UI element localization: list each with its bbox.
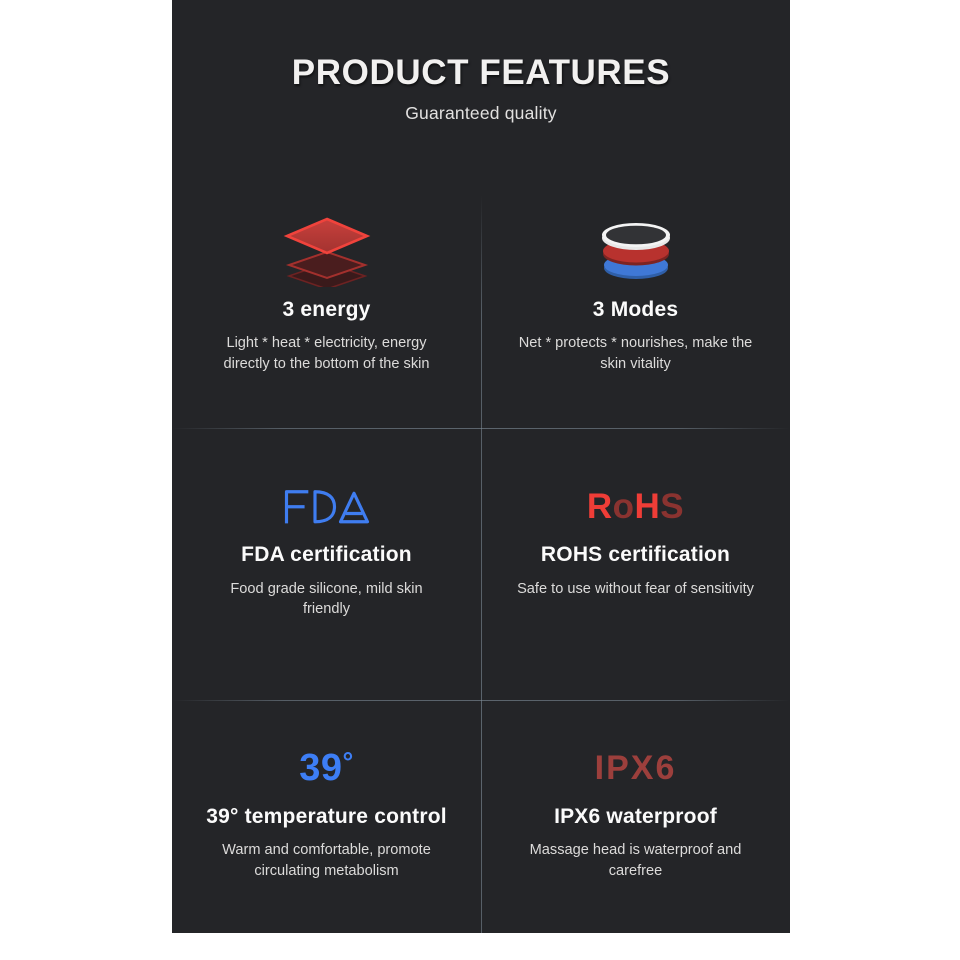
feature-description: Safe to use without fear of sensitivity bbox=[517, 568, 754, 600]
icon-container: 39° bbox=[299, 732, 354, 804]
ipx6-logo-icon: IPX6 bbox=[595, 751, 677, 785]
dark-panel: PRODUCT FEATURES Guaranteed quality bbox=[172, 0, 790, 933]
rohs-letter-s: S bbox=[660, 487, 684, 526]
features-grid: 3 energy Light * heat * electricity, ene… bbox=[172, 155, 790, 933]
feature-title: 39° temperature control bbox=[206, 804, 447, 829]
feature-description: Food grade silicone, mild skin friendly bbox=[207, 568, 447, 620]
feature-cell-3-modes: 3 Modes Net * protects * nourishes, make… bbox=[481, 155, 790, 414]
feature-title: FDA certification bbox=[241, 542, 412, 567]
feature-cell-rohs: RoHS ROHS certification Safe to use with… bbox=[481, 414, 790, 673]
product-features-infographic: PRODUCT FEATURES Guaranteed quality bbox=[0, 0, 960, 960]
feature-title: 3 energy bbox=[283, 297, 371, 322]
temperature-39-icon: 39° bbox=[299, 749, 354, 787]
rohs-letter-o: o bbox=[613, 487, 635, 526]
icon-container bbox=[282, 470, 372, 542]
rohs-logo-icon: RoHS bbox=[587, 489, 684, 524]
icon-container: IPX6 bbox=[595, 732, 677, 804]
degree-symbol: ° bbox=[342, 747, 353, 777]
header: PRODUCT FEATURES Guaranteed quality bbox=[172, 0, 790, 124]
feature-cell-fda: FDA certification Food grade silicone, m… bbox=[172, 414, 481, 673]
feature-cell-ipx6: IPX6 IPX6 waterproof Massage head is wat… bbox=[481, 674, 790, 933]
icon-container: RoHS bbox=[587, 470, 684, 542]
rohs-letter-r: R bbox=[587, 487, 613, 526]
feature-description: Massage head is waterproof and carefree bbox=[516, 829, 756, 881]
feature-description: Warm and comfortable, promote circulatin… bbox=[207, 829, 447, 881]
stacked-discs-icon bbox=[590, 209, 682, 289]
feature-cell-3-energy: 3 energy Light * heat * electricity, ene… bbox=[172, 155, 481, 414]
feature-title: 3 Modes bbox=[593, 297, 678, 322]
icon-container bbox=[279, 201, 375, 297]
rohs-letter-h: H bbox=[635, 487, 661, 526]
icon-container bbox=[590, 201, 682, 297]
feature-description: Light * heat * electricity, energy direc… bbox=[207, 322, 447, 374]
feature-description: Net * protects * nourishes, make the ski… bbox=[516, 322, 756, 374]
feature-cell-temperature: 39° 39° temperature control Warm and com… bbox=[172, 674, 481, 933]
feature-title: ROHS certification bbox=[541, 542, 730, 567]
page-subtitle: Guaranteed quality bbox=[172, 93, 790, 124]
page-title: PRODUCT FEATURES bbox=[172, 0, 790, 93]
feature-title: IPX6 waterproof bbox=[554, 804, 717, 829]
fda-logo-icon bbox=[282, 483, 372, 529]
temp-value: 39 bbox=[299, 747, 342, 789]
stacked-layers-icon bbox=[279, 211, 375, 287]
